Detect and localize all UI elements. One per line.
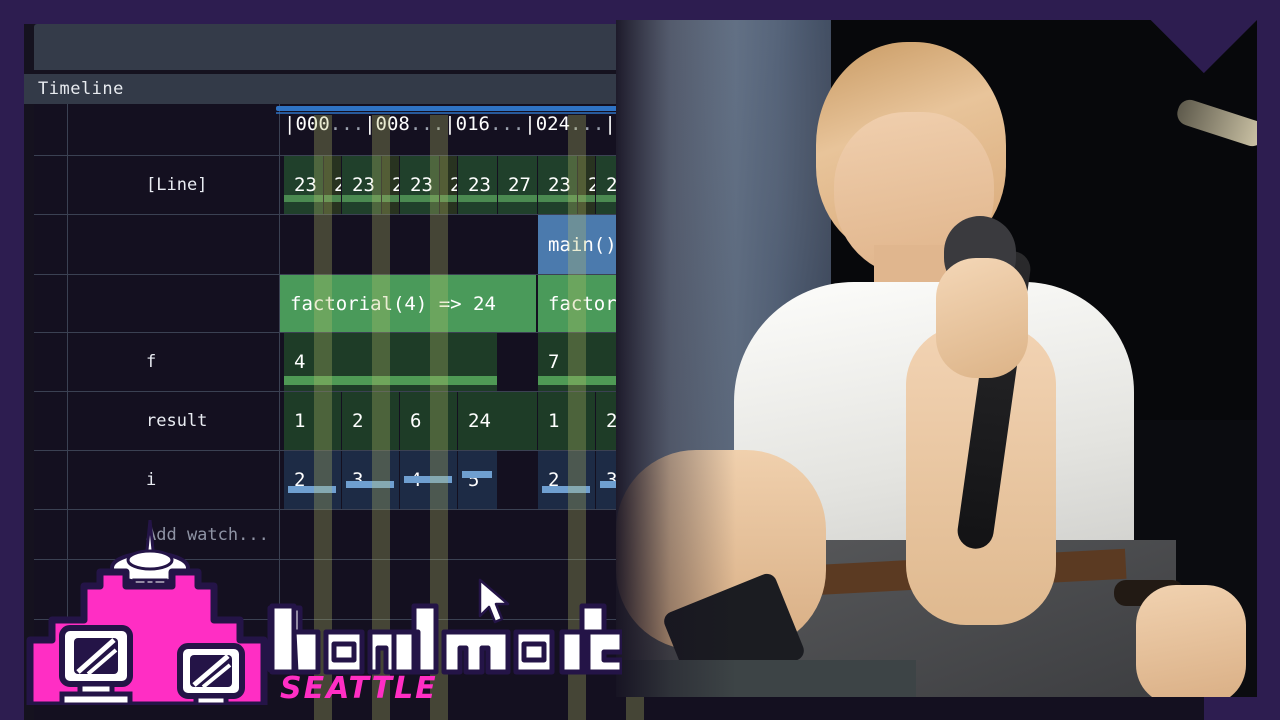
row-label-cell [68,104,280,155]
watch-result-value: 2 [596,410,617,432]
video-left-fade [616,20,736,697]
line-block[interactable]: 23 [284,156,324,214]
monitor-icon [62,628,130,705]
call-block-factorial-4[interactable]: factorial(4) => 24 [280,275,536,332]
row-index-cell [34,215,68,274]
line-value: 23 [342,174,375,196]
mouse-cursor [478,578,512,626]
line-block[interactable]: 24 [578,156,596,214]
row-label-frame [68,215,280,274]
watch-result-block[interactable]: 24 [458,392,538,450]
line-value: 24 [324,174,342,196]
call-label: factorial(4) => 24 [280,293,496,315]
row-label-i: i [68,451,280,509]
frame-label: main() [538,234,617,256]
line-block[interactable]: 23 [458,156,498,214]
line-value: 24 [578,174,596,196]
line-value-bar [342,195,381,202]
line-value-bar [324,195,341,202]
line-block[interactable]: 23 [400,156,440,214]
watch-i-block[interactable]: 2 [284,451,342,509]
watch-result-value: 24 [458,410,491,432]
watch-i-value-bar [346,481,394,488]
line-value: 24 [440,174,458,196]
line-value: 23 [400,174,433,196]
line-value-bar [382,195,399,202]
screen: Timeline |000...|008...|016...|024...|03… [0,0,1280,720]
row-label-result: result [68,392,280,450]
line-value-bar [498,195,537,202]
line-block[interactable]: 24 [324,156,342,214]
watch-result-block[interactable]: 6 [400,392,458,450]
watch-f-value: 7 [538,351,559,373]
line-value-bar [458,195,497,202]
watch-i-block[interactable]: 2 [538,451,596,509]
watch-result-value: 2 [342,410,363,432]
row-label-calls [68,275,280,332]
watch-result-value: 6 [400,410,421,432]
watch-result-block[interactable]: 1 [284,392,342,450]
line-block[interactable]: 24 [382,156,400,214]
watch-i-value-bar [404,476,452,483]
line-value-bar [400,195,439,202]
line-value: 27 [498,174,531,196]
watch-i-block[interactable]: 3 [342,451,400,509]
row-index-cell [34,156,68,214]
video-left-hand [1136,585,1246,697]
row-index-cell [34,333,68,391]
handmade-seattle-logo: SEATTLE [22,520,622,705]
line-block[interactable]: 23 [342,156,382,214]
watch-f-value: 4 [284,351,305,373]
row-index-cell [34,392,68,450]
watch-result-block[interactable]: 2 [342,392,400,450]
watch-result-value: 1 [538,410,559,432]
row-label-line: [Line] [68,156,280,214]
watch-f-value-bar [284,376,497,385]
line-value-bar [440,195,457,202]
line-value-bar [538,195,577,202]
watch-f-block[interactable]: 4 [284,333,498,391]
watch-i-value-bar [542,486,590,493]
line-value: 23 [538,174,571,196]
line-block[interactable]: 27 [498,156,538,214]
watch-result-value: 1 [284,410,305,432]
line-value: 23 [284,174,317,196]
watch-result-block[interactable]: 1 [538,392,596,450]
watch-i-block[interactable]: 5 [458,451,498,509]
line-block[interactable]: 23 [538,156,578,214]
row-index-cell [34,275,68,332]
line-block[interactable]: 24 [440,156,458,214]
watch-i-value-bar [462,471,492,478]
watch-i-value-bar [288,486,336,493]
line-value-bar [578,195,595,202]
line-value-bar [284,195,323,202]
line-value: 23 [458,174,491,196]
speaker-video [616,20,1257,697]
line-value: 24 [382,174,400,196]
row-label-f: f [68,333,280,391]
monitor-icon [180,646,242,705]
video-right-hand [936,258,1028,378]
logo-subtitle: SEATTLE [280,671,438,705]
row-index-cell [34,451,68,509]
watch-i-block[interactable]: 4 [400,451,458,509]
logo-wordmark [270,606,622,672]
row-index-cell [34,104,68,155]
